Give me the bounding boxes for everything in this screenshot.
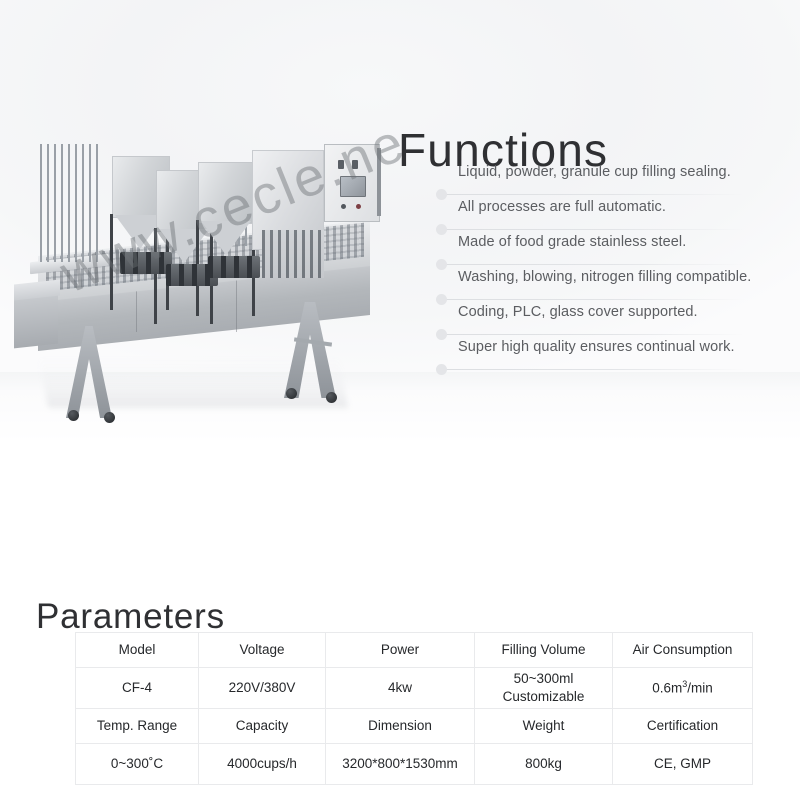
table-header-cell: Dimension bbox=[326, 709, 475, 744]
caster-wheel bbox=[104, 412, 115, 423]
filling-valves-1 bbox=[120, 252, 172, 274]
function-item-label: All processes are full automatic. bbox=[458, 199, 666, 215]
function-list-item: Liquid, powder, granule cup filling seal… bbox=[436, 160, 746, 195]
table-cell-certification: CE, GMP bbox=[613, 744, 753, 785]
control-button bbox=[341, 204, 346, 209]
table-header-cell: Weight bbox=[475, 709, 613, 744]
air-consumption-prefix: 0.6m bbox=[652, 681, 682, 696]
product-image bbox=[8, 126, 428, 426]
emergency-stop-button bbox=[356, 204, 361, 209]
function-item-label: Liquid, powder, granule cup filling seal… bbox=[458, 164, 731, 180]
function-list-item: Made of food grade stainless steel. bbox=[436, 230, 746, 265]
function-item-label: Coding, PLC, glass cover supported. bbox=[458, 304, 698, 320]
table-cell-temp-range: 0~300˚C bbox=[76, 744, 199, 785]
functions-section: www.cecle.ne Functions Liquid, powder, g… bbox=[0, 0, 800, 440]
parameters-section: Parameters Model Voltage Power Filling V… bbox=[0, 440, 800, 800]
table-cell-dimension: 3200*800*1530mm bbox=[326, 744, 475, 785]
table-cell-weight: 800kg bbox=[475, 744, 613, 785]
table-cell-model: CF-4 bbox=[76, 668, 199, 709]
table-row: CF-4 220V/380V 4kw 50~300ml Customizable… bbox=[76, 668, 753, 709]
function-list-item: Washing, blowing, nitrogen filling compa… bbox=[436, 265, 746, 300]
table-header-cell: Power bbox=[326, 633, 475, 668]
sealing-mechanism bbox=[262, 230, 324, 278]
filling-volume-line2: Customizable bbox=[503, 689, 585, 704]
table-cell-power: 4kw bbox=[326, 668, 475, 709]
cup-stacker-rods bbox=[40, 144, 102, 262]
function-list-item: Super high quality ensures continual wor… bbox=[436, 335, 746, 370]
function-list-item: Coding, PLC, glass cover supported. bbox=[436, 300, 746, 335]
functions-list: Liquid, powder, granule cup filling seal… bbox=[436, 160, 746, 370]
table-cell-voltage: 220V/380V bbox=[199, 668, 326, 709]
table-header-cell: Model bbox=[76, 633, 199, 668]
conveyor-seam bbox=[236, 276, 237, 332]
table-row: 0~300˚C 4000cups/h 3200*800*1530mm 800kg… bbox=[76, 744, 753, 785]
table-header-cell: Filling Volume bbox=[475, 633, 613, 668]
function-item-label: Washing, blowing, nitrogen filling compa… bbox=[458, 269, 751, 285]
parameters-table: Model Voltage Power Filling Volume Air C… bbox=[75, 632, 753, 785]
control-display-screen bbox=[340, 176, 366, 197]
control-switch bbox=[352, 160, 358, 169]
function-item-label: Made of food grade stainless steel. bbox=[458, 234, 686, 250]
function-list-item: All processes are full automatic. bbox=[436, 195, 746, 230]
table-header-cell: Certification bbox=[613, 709, 753, 744]
caster-wheel bbox=[326, 392, 337, 403]
bullet-dot-icon bbox=[436, 364, 447, 375]
table-header-cell: Temp. Range bbox=[76, 709, 199, 744]
table-cell-capacity: 4000cups/h bbox=[199, 744, 326, 785]
table-cell-air-consumption: 0.6m3/min bbox=[613, 668, 753, 709]
table-header-row: Model Voltage Power Filling Volume Air C… bbox=[76, 633, 753, 668]
caster-wheel bbox=[286, 388, 297, 399]
function-item-label: Super high quality ensures continual wor… bbox=[458, 339, 735, 355]
table-header-cell: Voltage bbox=[199, 633, 326, 668]
table-header-cell: Air Consumption bbox=[613, 633, 753, 668]
table-header-cell: Capacity bbox=[199, 709, 326, 744]
filling-volume-line1: 50~300ml bbox=[514, 671, 574, 686]
table-header-row: Temp. Range Capacity Dimension Weight Ce… bbox=[76, 709, 753, 744]
table-cell-filling-volume: 50~300ml Customizable bbox=[475, 668, 613, 709]
divider-line bbox=[445, 369, 745, 370]
caster-wheel bbox=[68, 410, 79, 421]
infeed-section bbox=[14, 292, 58, 349]
control-box-hinge bbox=[377, 148, 381, 216]
filling-valves-3 bbox=[208, 256, 260, 278]
air-consumption-suffix: /min bbox=[687, 681, 713, 696]
control-switch bbox=[338, 160, 344, 169]
